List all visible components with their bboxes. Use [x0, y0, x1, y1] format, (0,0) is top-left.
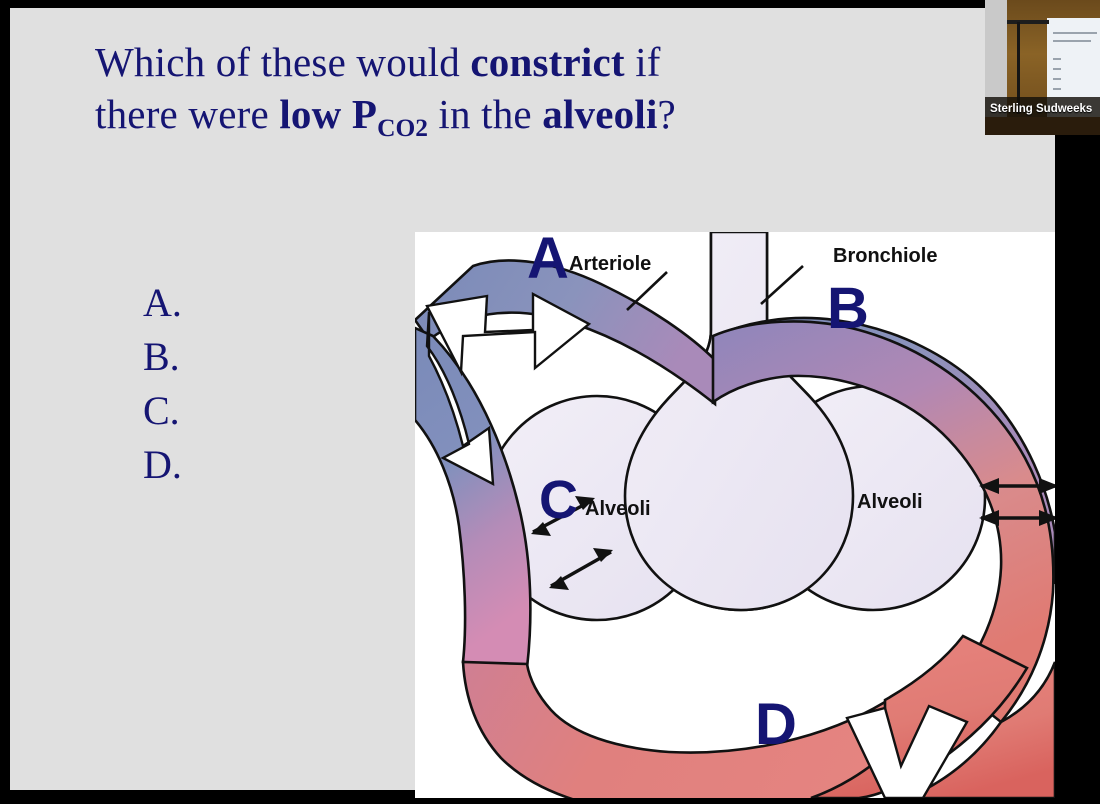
answer-options-list: A. B. C. D.: [143, 276, 182, 492]
label-alveoli-right: Alveoli: [857, 491, 923, 513]
arteriole-descending: [415, 328, 530, 668]
slide-canvas: Which of these would constrict if there …: [10, 8, 1055, 790]
webcam-floor: [985, 117, 1100, 135]
venule-bottom-left: [463, 662, 915, 798]
title-text-segment: ?: [658, 91, 676, 137]
title-text-segment: if: [625, 39, 661, 85]
option-marker-b: B: [827, 276, 869, 341]
label-arteriole: Arteriole: [569, 253, 651, 275]
answer-option-c[interactable]: C.: [143, 384, 182, 438]
title-line-1: Which of these would constrict if: [95, 39, 661, 85]
title-text-segment: Which of these would: [95, 39, 470, 85]
bronchiole-overlay: [625, 232, 853, 610]
gas-exchange-diagram: Arteriole Bronchiole Alveoli Alveoli A B…: [415, 232, 1055, 798]
screen-line: [1053, 32, 1097, 34]
option-marker-c: C: [539, 470, 578, 530]
answer-option-a[interactable]: A.: [143, 276, 182, 330]
option-marker-d: D: [755, 692, 797, 757]
title-bold-alveoli: alveoli: [542, 91, 657, 137]
presentation-viewer: Which of these would constrict if there …: [0, 0, 1100, 804]
option-marker-a: A: [527, 232, 569, 291]
title-bold-lowpco2: low PCO2: [279, 91, 428, 137]
answer-option-b[interactable]: B.: [143, 330, 182, 384]
label-alveoli-left: Alveoli: [585, 498, 651, 520]
presenter-name-label: Sterling Sudweeks: [990, 103, 1100, 115]
label-bronchiole: Bronchiole: [833, 245, 937, 267]
screen-line: [1053, 40, 1091, 42]
answer-option-d[interactable]: D.: [143, 438, 182, 492]
page-title: Which of these would constrict if there …: [95, 36, 925, 144]
webcam-ceiling-beam: [1007, 20, 1049, 24]
leader-line-arteriole: [627, 272, 667, 310]
webcam-thumbnail[interactable]: Sterling Sudweeks: [985, 0, 1100, 135]
title-lowp-text: low P: [279, 91, 377, 137]
diagram-svg: Arteriole Bronchiole Alveoli Alveoli A B…: [415, 232, 1055, 798]
title-bold-constrict: constrict: [470, 39, 624, 85]
title-text-segment: there were: [95, 91, 279, 137]
title-text-segment: in the: [428, 91, 542, 137]
screen-line: [1053, 58, 1061, 60]
screen-line: [1053, 68, 1061, 70]
screen-line: [1053, 88, 1061, 90]
title-subscript-co2: CO2: [377, 114, 428, 142]
screen-line: [1053, 78, 1061, 80]
arrowhead: [1039, 478, 1055, 494]
title-line-2: there were low PCO2 in the alveoli?: [95, 91, 676, 137]
